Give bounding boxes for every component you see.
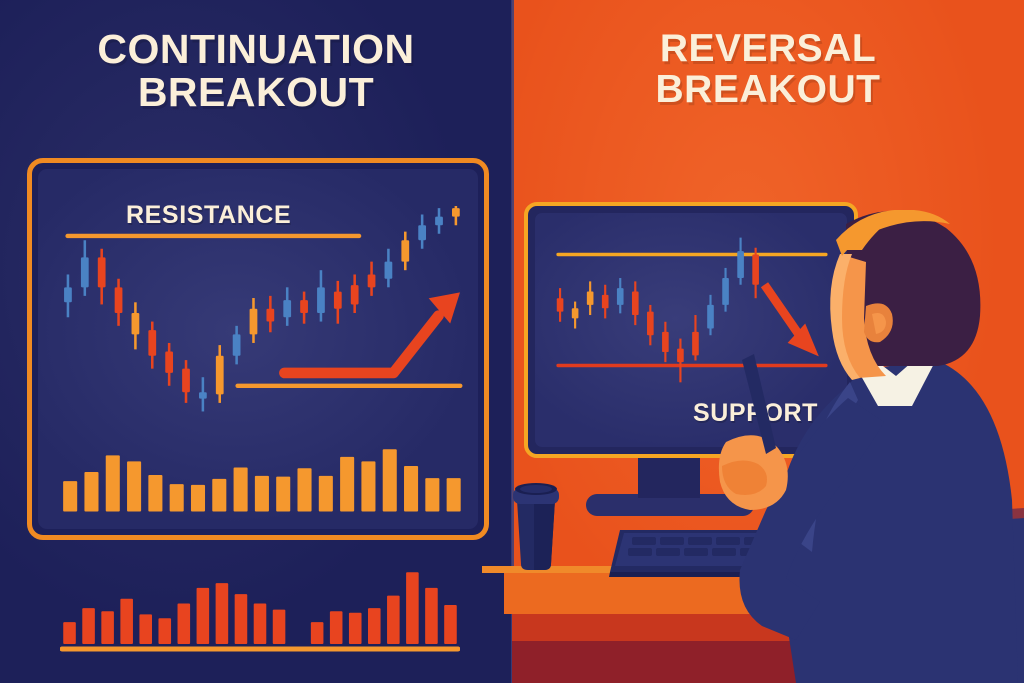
continuation-volume-histogram [60,556,460,656]
right-title-line-2: BREAKOUT [512,69,1024,110]
illustration-canvas: CONTINUATION BREAKOUT REVERSAL BREAKOUT … [0,0,1024,683]
up-arrow-icon [284,292,460,373]
desk-left-leg [482,566,504,683]
left-panel-title: CONTINUATION BREAKOUT [0,28,512,115]
right-title-line-1: REVERSAL [512,28,1024,69]
monitor-neck [638,456,700,498]
coffee-cup-icon [510,478,562,573]
person-back-icon [700,210,1024,683]
resistance-label: RESISTANCE [126,201,291,230]
continuation-chart-screen: RESISTANCE [38,169,478,529]
left-title-line-1: CONTINUATION [0,28,512,71]
left-title-line-2: BREAKOUT [0,71,512,114]
right-panel-title: REVERSAL BREAKOUT [512,28,1024,111]
continuation-chart-card: RESISTANCE [27,158,489,540]
